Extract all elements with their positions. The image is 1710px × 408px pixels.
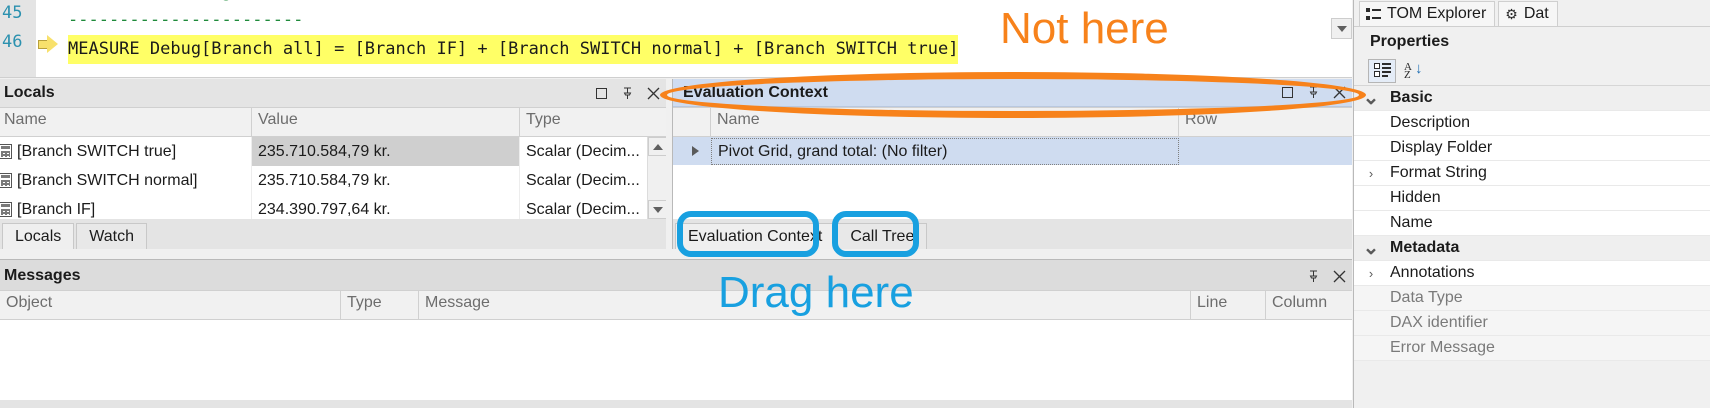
properties-header: Properties	[1354, 26, 1710, 56]
property-row-display-folder[interactable]: Display Folder	[1354, 136, 1710, 161]
code-line-separator: -----------------------	[68, 6, 303, 35]
property-label: Error Message	[1388, 339, 1710, 357]
property-label: Data Type	[1388, 289, 1710, 307]
property-label: Format String	[1388, 164, 1710, 182]
column-header-message[interactable]: Message	[419, 291, 1191, 319]
tab-call-tree[interactable]: Call Tree	[837, 223, 927, 249]
property-row-data-type: Data Type	[1354, 286, 1710, 311]
property-group-basic[interactable]: ⌄ Basic	[1354, 86, 1710, 111]
panel-title-text: Locals	[4, 84, 55, 102]
property-label: Name	[1388, 214, 1710, 232]
locals-column-headers: Name Value Type	[0, 107, 666, 137]
property-label: Metadata	[1388, 239, 1710, 257]
column-header-type[interactable]: Type	[341, 291, 419, 319]
line-number: 45	[0, 0, 34, 28]
pin-icon[interactable]	[1300, 263, 1326, 289]
property-row-description[interactable]: Description	[1354, 111, 1710, 136]
categorized-view-button[interactable]	[1368, 59, 1396, 83]
tab-watch[interactable]: Watch	[76, 223, 147, 249]
cell-name: [Branch SWITCH true]	[17, 137, 176, 166]
property-row-format-string[interactable]: › Format String	[1354, 161, 1710, 186]
editor-scroll-down-button[interactable]	[1331, 18, 1352, 39]
tab-locals[interactable]: Locals	[2, 223, 74, 249]
property-label: Hidden	[1388, 189, 1710, 207]
column-header-value[interactable]: Value	[252, 108, 520, 136]
chevron-right-icon[interactable]: ›	[1354, 266, 1388, 281]
locals-panel: Locals Name Value Type [Branch SWITCH tr…	[0, 79, 666, 249]
restore-icon[interactable]	[1274, 80, 1300, 106]
table-row[interactable]: [Branch SWITCH true] 235.710.584,79 kr. …	[0, 137, 666, 166]
pin-icon[interactable]	[1300, 80, 1326, 106]
categorized-icon	[1374, 63, 1391, 78]
cell-value: 234.390.797,64 kr.	[252, 195, 520, 220]
right-dock: TOM Explorer ⚙ Dat Properties AZ↓	[1353, 0, 1710, 408]
column-header-column[interactable]: Column	[1266, 291, 1352, 319]
locals-tabstrip: Locals Watch	[0, 219, 666, 249]
close-icon[interactable]	[640, 80, 666, 106]
column-header-row[interactable]: Row	[1179, 108, 1339, 136]
gear-icon: ⚙	[1505, 7, 1518, 21]
evaluation-context-tabstrip: Evaluation Context Call Tree	[673, 219, 1352, 249]
chevron-down-icon[interactable]: ⌄	[1354, 93, 1388, 103]
column-header-type[interactable]: Type	[520, 108, 650, 136]
pin-icon[interactable]	[614, 80, 640, 106]
dax-code-editor[interactable]: 45 46 -- MEASURE Debug[Branch all] -----…	[0, 0, 1352, 78]
cell-type: Scalar (Decim...	[520, 137, 650, 166]
property-label: Basic	[1388, 89, 1710, 107]
evaluation-context-panel: Evaluation Context Name Row Pivot Grid,	[672, 79, 1352, 249]
code-line-measure: MEASURE Debug[Branch all] = [Branch IF] …	[68, 35, 958, 64]
cell-value: 235.710.584,79 kr.	[252, 166, 520, 195]
evaluation-context-grid-body: Pivot Grid, grand total: (No filter)	[673, 137, 1352, 219]
chevron-down-icon	[1337, 26, 1347, 32]
tom-explorer-icon	[1366, 8, 1381, 21]
scroll-up-button[interactable]	[648, 137, 666, 156]
tab-tom-explorer[interactable]: TOM Explorer	[1359, 1, 1495, 26]
measure-icon	[0, 173, 12, 188]
tab-evaluation-context[interactable]: Evaluation Context	[675, 223, 835, 249]
restore-icon[interactable]	[588, 80, 614, 106]
right-dock-tabstrip: TOM Explorer ⚙ Dat	[1354, 0, 1710, 26]
cell-name: [Branch IF]	[17, 195, 95, 220]
property-row-dax-identifier: DAX identifier	[1354, 311, 1710, 336]
property-label: DAX identifier	[1388, 314, 1710, 332]
cell-name: [Branch SWITCH normal]	[17, 166, 197, 195]
messages-column-headers: Object Type Message Line Column	[0, 290, 1352, 320]
measure-icon	[0, 202, 12, 217]
property-label: Annotations	[1388, 264, 1710, 282]
close-icon[interactable]	[1326, 80, 1352, 106]
tab-label: TOM Explorer	[1387, 5, 1486, 23]
chevron-down-icon	[653, 207, 663, 213]
chevron-down-icon[interactable]: ⌄	[1354, 243, 1388, 253]
column-header-object[interactable]: Object	[0, 291, 341, 319]
property-row-annotations[interactable]: › Annotations	[1354, 261, 1710, 286]
column-header-name[interactable]: Name	[711, 108, 1179, 136]
table-row[interactable]: [Branch IF] 234.390.797,64 kr. Scalar (D…	[0, 195, 666, 219]
panel-title-text: Evaluation Context	[677, 84, 828, 102]
chevron-up-icon	[653, 144, 663, 150]
table-row[interactable]: Pivot Grid, grand total: (No filter)	[673, 137, 1352, 166]
messages-title-bar: Messages	[0, 260, 1352, 290]
properties-toolbar: AZ↓	[1354, 56, 1710, 86]
evaluation-context-title-bar: Evaluation Context	[673, 79, 1352, 107]
messages-panel: Messages Object Type Message Line Column	[0, 259, 1352, 408]
column-header-line[interactable]: Line	[1191, 291, 1266, 319]
line-number: 46	[0, 28, 34, 57]
table-row[interactable]: [Branch SWITCH normal] 235.710.584,79 kr…	[0, 166, 666, 195]
property-label: Display Folder	[1388, 139, 1710, 157]
scroll-down-button[interactable]	[648, 200, 666, 219]
chevron-right-icon	[692, 146, 699, 156]
property-row-hidden[interactable]: Hidden	[1354, 186, 1710, 211]
evaluation-context-column-headers: Name Row	[673, 107, 1352, 137]
property-label: Description	[1388, 114, 1710, 132]
messages-grid-body	[0, 320, 1352, 400]
cell-type: Scalar (Decim...	[520, 195, 650, 220]
cell-type: Scalar (Decim...	[520, 166, 650, 195]
locals-grid-body: [Branch SWITCH true] 235.710.584,79 kr. …	[0, 137, 666, 219]
property-row-name[interactable]: Name	[1354, 211, 1710, 236]
expand-row-button[interactable]	[673, 137, 711, 166]
tab-label: Dat	[1524, 5, 1549, 23]
cell-name: Pivot Grid, grand total: (No filter)	[711, 138, 1179, 165]
tab-data[interactable]: ⚙ Dat	[1498, 1, 1557, 26]
property-row-error-message: Error Message	[1354, 336, 1710, 361]
locals-vertical-scrollbar[interactable]	[647, 137, 666, 219]
alphabetical-sort-button[interactable]: AZ↓	[1400, 59, 1428, 83]
sort-az-icon: AZ↓	[1404, 62, 1424, 79]
column-header-spacer	[673, 108, 711, 136]
properties-list: ⌄ Basic Description Display Folder › For…	[1354, 86, 1710, 361]
close-icon[interactable]	[1326, 263, 1352, 289]
panel-title-text: Messages	[4, 267, 81, 285]
locals-title-bar: Locals	[0, 79, 666, 107]
chevron-right-icon[interactable]: ›	[1354, 166, 1388, 181]
measure-icon	[0, 144, 12, 159]
app-window: 45 46 -- MEASURE Debug[Branch all] -----…	[0, 0, 1710, 408]
cell-value: 235.710.584,79 kr.	[252, 137, 520, 166]
cell-row	[1179, 137, 1339, 166]
property-group-metadata[interactable]: ⌄ Metadata	[1354, 236, 1710, 261]
column-header-name[interactable]: Name	[0, 108, 252, 136]
